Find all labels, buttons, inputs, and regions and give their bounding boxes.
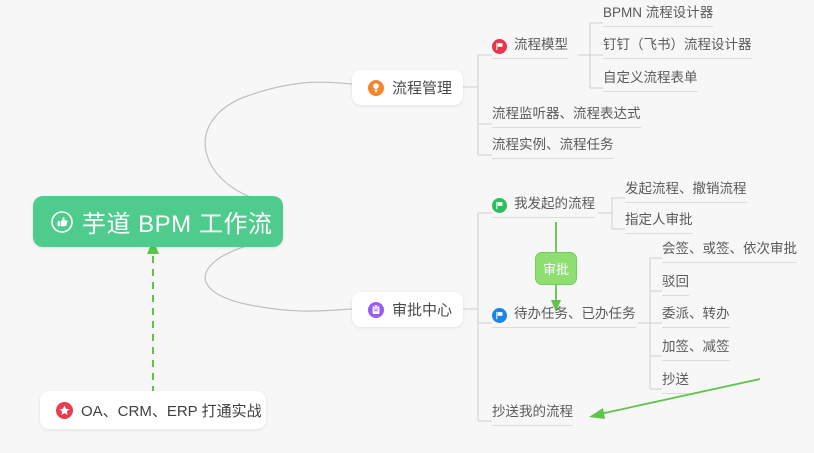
node-bpmn-designer[interactable]: BPMN 流程设计器 bbox=[603, 5, 713, 27]
edge-root-to-approval-center bbox=[205, 238, 352, 311]
mindmap-canvas: 芋道 BPM 工作流 流程管理 流程模型 BPMN 流程设计器 钉钉（飞书）流程 bbox=[0, 0, 814, 453]
flow-tag-approval[interactable]: 审批 bbox=[535, 252, 577, 285]
node-label-dingtalk-designer: 钉钉（飞书）流程设计器 bbox=[603, 36, 752, 54]
node-add-remove-sign[interactable]: 加签、减签 bbox=[662, 339, 730, 361]
thumbs-up-icon bbox=[51, 211, 73, 233]
node-label-assign-approver: 指定人审批 bbox=[625, 211, 693, 229]
node-label-cc-to-me-process: 抄送我的流程 bbox=[492, 403, 573, 421]
node-cc[interactable]: 抄送 bbox=[662, 372, 689, 394]
node-custom-form[interactable]: 自定义流程表单 bbox=[603, 70, 698, 92]
node-countersign[interactable]: 会签、或签、依次审批 bbox=[662, 241, 797, 263]
node-label-bpmn-designer: BPMN 流程设计器 bbox=[603, 4, 713, 22]
branch-node-approval-center[interactable]: 审批中心 bbox=[352, 292, 463, 327]
node-cc-to-me-process[interactable]: 抄送我的流程 bbox=[492, 404, 573, 426]
node-label-my-started-process: 我发起的流程 bbox=[514, 195, 595, 213]
callout-label: OA、CRM、ERP 打通实战 bbox=[81, 400, 262, 421]
clipboard-icon bbox=[368, 302, 384, 318]
branch-label-process-management: 流程管理 bbox=[392, 77, 452, 98]
node-label-countersign: 会签、或签、依次审批 bbox=[662, 240, 797, 258]
node-label-todo-done-tasks: 待办任务、已办任务 bbox=[514, 305, 636, 323]
root-label: 芋道 BPM 工作流 bbox=[82, 204, 272, 239]
node-label-delegate-transfer: 委派、转办 bbox=[662, 305, 730, 323]
node-process-listener[interactable]: 流程监听器、流程表达式 bbox=[492, 106, 641, 128]
edge-root-to-process-management bbox=[205, 82, 352, 205]
flag-icon bbox=[492, 308, 507, 323]
lightbulb-icon bbox=[368, 80, 384, 96]
node-label-start-cancel-process: 发起流程、撤销流程 bbox=[625, 180, 747, 198]
node-label-add-remove-sign: 加签、减签 bbox=[662, 338, 730, 356]
root-node[interactable]: 芋道 BPM 工作流 bbox=[33, 196, 283, 247]
node-todo-done-tasks[interactable]: 待办任务、已办任务 bbox=[492, 306, 636, 328]
flag-icon bbox=[492, 198, 507, 213]
node-delegate-transfer[interactable]: 委派、转办 bbox=[662, 306, 730, 328]
node-label-process-listener: 流程监听器、流程表达式 bbox=[492, 105, 641, 123]
node-reject[interactable]: 驳回 bbox=[662, 274, 689, 296]
node-process-model[interactable]: 流程模型 bbox=[492, 37, 568, 59]
star-icon bbox=[56, 402, 73, 419]
callout-node-integration[interactable]: OA、CRM、ERP 打通实战 bbox=[40, 391, 266, 429]
flag-icon bbox=[492, 39, 507, 54]
node-assign-approver[interactable]: 指定人审批 bbox=[625, 212, 693, 234]
node-label-reject: 驳回 bbox=[662, 273, 689, 291]
node-my-started-process[interactable]: 我发起的流程 bbox=[492, 196, 595, 218]
node-label-custom-form: 自定义流程表单 bbox=[603, 69, 698, 87]
branch-node-process-management[interactable]: 流程管理 bbox=[352, 70, 463, 105]
node-label-process-model: 流程模型 bbox=[514, 36, 568, 54]
branch-label-approval-center: 审批中心 bbox=[392, 299, 452, 320]
node-dingtalk-designer[interactable]: 钉钉（飞书）流程设计器 bbox=[603, 37, 752, 59]
arrow-head-cc-to-cc-my-process bbox=[589, 408, 605, 419]
node-start-cancel-process[interactable]: 发起流程、撤销流程 bbox=[625, 181, 747, 203]
node-label-cc: 抄送 bbox=[662, 371, 689, 389]
flow-tag-label: 审批 bbox=[543, 259, 569, 278]
node-process-instance[interactable]: 流程实例、流程任务 bbox=[492, 137, 614, 159]
node-label-process-instance: 流程实例、流程任务 bbox=[492, 136, 614, 154]
